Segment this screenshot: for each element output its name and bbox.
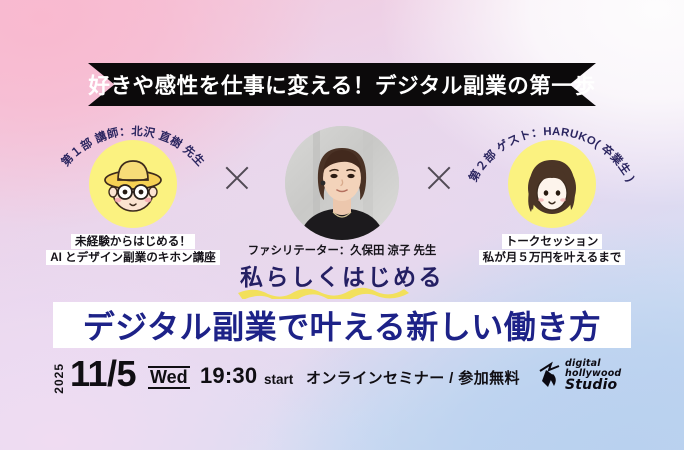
facilitator-caption: ファシリテーター：久保田 涼子 先生 — [247, 244, 437, 259]
event-date: 11/5 — [70, 353, 136, 395]
event-day-of-week: Wed — [148, 366, 190, 389]
event-start-label: start — [264, 372, 293, 387]
portrait-photo-icon — [285, 126, 399, 240]
separator-x-right-icon — [424, 163, 454, 193]
logo-mark-icon — [537, 361, 563, 391]
illustration-hat-glasses-icon — [89, 140, 177, 228]
event-mode: オンラインセミナー / 参加無料 — [306, 367, 520, 388]
ribbon-banner: 好きや感性を仕事に変える！デジタル副業の第一歩 — [88, 63, 596, 106]
separator-x-left-icon — [222, 163, 252, 193]
digital-hollywood-studio-logo: digital hollywood Studio — [537, 358, 637, 394]
main-headline: デジタル副業で叶える新しい働き方 — [83, 302, 601, 348]
speaker-left-avatar — [89, 140, 177, 228]
speaker-left-caption-line1: 未経験からはじめる！ — [71, 234, 195, 249]
facilitator-photo — [285, 126, 399, 240]
facilitator-caption-line1: ファシリテーター：久保田 涼子 先生 — [244, 244, 441, 259]
seminar-poster: 好きや感性を仕事に変える！デジタル副業の第一歩 第１部 講師：北沢 直樹 先生 — [0, 0, 684, 450]
headline-band: デジタル副業で叶える新しい働き方 — [53, 302, 631, 348]
logo-line-3: Studio — [565, 377, 617, 393]
speaker-right-caption-line1: トークセッション — [502, 234, 603, 249]
event-year: 2025 — [52, 363, 66, 394]
event-time: 19:30 — [200, 363, 257, 389]
illustration-bob-hair-icon — [508, 140, 596, 228]
sub-headline: 私らしくはじめる — [0, 258, 684, 292]
speaker-right-avatar — [508, 140, 596, 228]
ribbon-text: 好きや感性を仕事に変える！デジタル副業の第一歩 — [88, 63, 596, 106]
